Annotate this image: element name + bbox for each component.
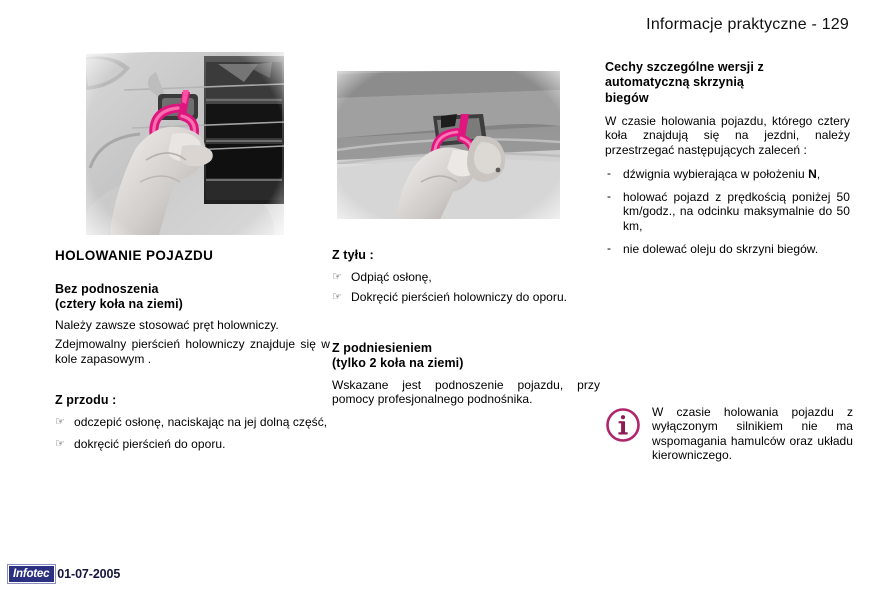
footer-date: 01-07-2005 [57,567,120,581]
list-item: - nie dolewać oleju do skrzyni biegów. [605,242,850,256]
list-item: - holować pojazd z prędkością poniżej 50… [605,190,850,233]
subsection-rear-title: Z tyłu : [332,248,600,263]
automatic-gearbox-title-line3: biegów [605,91,850,106]
subsection-front-title: Z przodu : [55,393,330,408]
list-item-suffix: , [817,167,820,181]
list-item: ☞ Dokręcić pierścień holowniczy do oporu… [332,290,600,304]
front-towing-eye-photo [86,42,284,245]
list-item: ☞ odczepić osłonę, naciskając na jej dol… [55,415,330,429]
automatic-gearbox-title-line1: Cechy szczególne wersji z [605,60,850,75]
dash-bullet-icon: - [607,241,611,255]
subsection-with-lifting-line1: Z podniesieniem [332,341,600,356]
with-lifting-paragraph: Wskazane jest podnoszenie pojazdu, przy … [332,378,600,407]
rear-steps-list: ☞ Odpiąć osłonę, ☞ Dokręcić pierścień ho… [332,270,600,304]
pointing-hand-bullet-icon: ☞ [332,271,342,284]
automatic-gearbox-intro: W czasie holowania pojazdu, którego czte… [605,114,850,158]
pointing-hand-bullet-icon: ☞ [332,291,342,304]
infotec-logo: Infotec [8,565,55,583]
automatic-gearbox-title-line2: automatyczną skrzynią [605,75,850,90]
list-item-emphasis: N [808,167,817,181]
info-note: W czasie holowania pojazdu z wyłączonym … [605,405,853,463]
list-item-label: dźwignia wybierająca w położeniu [623,167,808,181]
subsection-without-lifting-line1: Bez podnoszenia [55,282,330,297]
subsection-without-lifting-line2: (cztery koła na ziemi) [55,297,330,312]
list-item-label: Dokręcić pierścień holowniczy do oporu. [351,290,567,304]
info-note-text: W czasie holowania pojazdu z wyłączonym … [652,405,853,463]
list-item-label: dokręcić pierścień do oporu. [74,437,225,451]
footer: Infotec 01-07-2005 [8,565,120,583]
without-lifting-paragraph-2: Zdejmowalny pierścień holowniczy znajduj… [55,337,330,366]
list-item: ☞ dokręcić pierścień do oporu. [55,437,330,451]
info-circle-icon [605,407,641,443]
list-item-label: Odpiąć osłonę, [351,270,432,284]
rear-towing-eye-photo [337,64,560,226]
subsection-with-lifting-line2: (tylko 2 koła na ziemi) [332,356,600,371]
list-item: ☞ Odpiąć osłonę, [332,270,600,284]
section-title-towing: HOLOWANIE POJAZDU [55,248,330,265]
front-steps-list: ☞ odczepić osłonę, naciskając na jej dol… [55,415,330,451]
dash-bullet-icon: - [607,189,611,203]
pointing-hand-bullet-icon: ☞ [55,438,65,451]
list-item-label: nie dolewać oleju do skrzyni biegów. [623,242,818,256]
automatic-gearbox-recommendations: - dźwignia wybierająca w położeniu N, - … [605,167,850,257]
list-item-label: holować pojazd z prędkością poniżej 50 k… [623,190,850,233]
page-header-title: Informacje praktyczne - 129 [646,16,849,34]
pointing-hand-bullet-icon: ☞ [55,416,65,429]
dash-bullet-icon: - [607,166,611,180]
list-item: - dźwignia wybierająca w położeniu N, [605,167,850,181]
without-lifting-paragraph-1: Należy zawsze stosować pręt holowniczy. [55,318,330,333]
list-item-label: odczepić osłonę, naciskając na jej dolną… [74,415,327,429]
